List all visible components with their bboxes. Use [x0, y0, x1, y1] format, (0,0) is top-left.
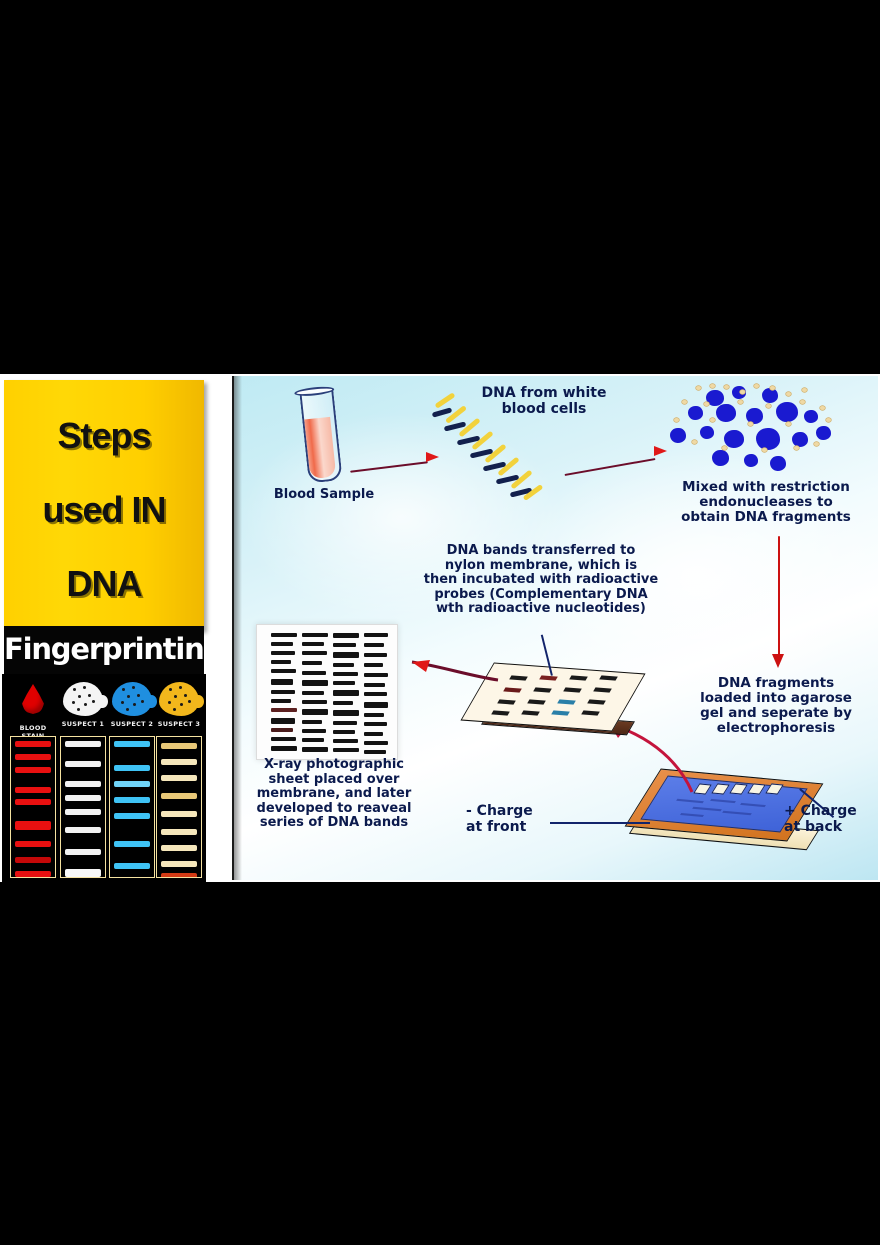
black-subtitle-card: Fingerprinting BLOOD STAIN	[4, 626, 204, 882]
xray-lane	[333, 633, 359, 751]
lane-header-suspect-2: SUSPECT 2	[107, 680, 157, 736]
lane-header-blood-stain: BLOOD STAIN	[8, 680, 58, 736]
title-line-3: DNA	[4, 566, 204, 602]
leader-line-negative-charge	[550, 822, 650, 824]
left-title-panel: Steps used IN DNA Fingerprinting BLOOD S…	[0, 374, 212, 882]
title-line-2: used IN	[4, 492, 204, 528]
xray-lane	[271, 633, 297, 751]
head-silhouette-icon	[61, 680, 105, 718]
lane-label-blood-stain-line1: BLOOD	[8, 724, 58, 732]
title-line-1: Steps	[4, 418, 204, 454]
xray-lane	[364, 633, 390, 751]
lane-header-suspect-1: SUSPECT 1	[58, 680, 108, 736]
caption-blood-sample: Blood Sample	[244, 488, 404, 503]
lane-label-suspect-3: SUSPECT 3	[154, 720, 204, 728]
gel-lane-suspect-3	[156, 736, 202, 878]
head-silhouette-icon	[157, 680, 201, 718]
caption-restriction-endonucleases: Mixed with restriction endonucleases to …	[654, 480, 878, 525]
lane-label-suspect-2: SUSPECT 2	[107, 720, 157, 728]
caption-positive-charge: + Charge at back	[784, 804, 878, 835]
caption-xray-film: X-ray photographic sheet placed over mem…	[234, 758, 434, 831]
arrow-tube-to-helix	[350, 461, 428, 472]
gel-lane-suspect-1	[60, 736, 106, 878]
head-silhouette-icon	[110, 680, 154, 718]
arrow-membrane-to-xray	[400, 658, 504, 688]
caption-negative-charge: - Charge at front	[466, 804, 562, 835]
gel-lane-blood-stain	[10, 736, 56, 878]
arrow-fragments-to-gel	[778, 536, 780, 658]
xray-lane	[302, 633, 328, 751]
test-tube-icon	[293, 388, 346, 484]
subtitle-fingerprinting: Fingerprinting	[4, 632, 204, 666]
caption-electrophoresis: DNA fragments loaded into agarose gel an…	[674, 676, 878, 736]
lane-label-suspect-1: SUSPECT 1	[58, 720, 108, 728]
right-process-diagram: Blood Sample DNA from white blood cells	[232, 376, 878, 880]
dna-fragments-cluster-icon	[666, 384, 846, 480]
blood-drop-icon	[11, 684, 55, 722]
caption-dna-from-white-blood-cells: DNA from white blood cells	[454, 386, 634, 417]
yellow-title-card: Steps used IN DNA	[4, 380, 204, 630]
suspect-gel-strip: BLOOD STAIN	[2, 674, 206, 882]
arrow-fragments-to-gel-head	[772, 654, 784, 668]
arrow-helix-to-fragments	[565, 458, 656, 476]
xray-film-icon	[256, 624, 398, 760]
lane-header-suspect-3: SUSPECT 3	[154, 680, 204, 736]
dna-fingerprinting-poster: Steps used IN DNA Fingerprinting BLOOD S…	[0, 374, 880, 882]
caption-membrane-transfer: DNA bands transferred to nylon membrane,…	[408, 544, 674, 617]
gel-lane-suspect-2	[109, 736, 155, 878]
